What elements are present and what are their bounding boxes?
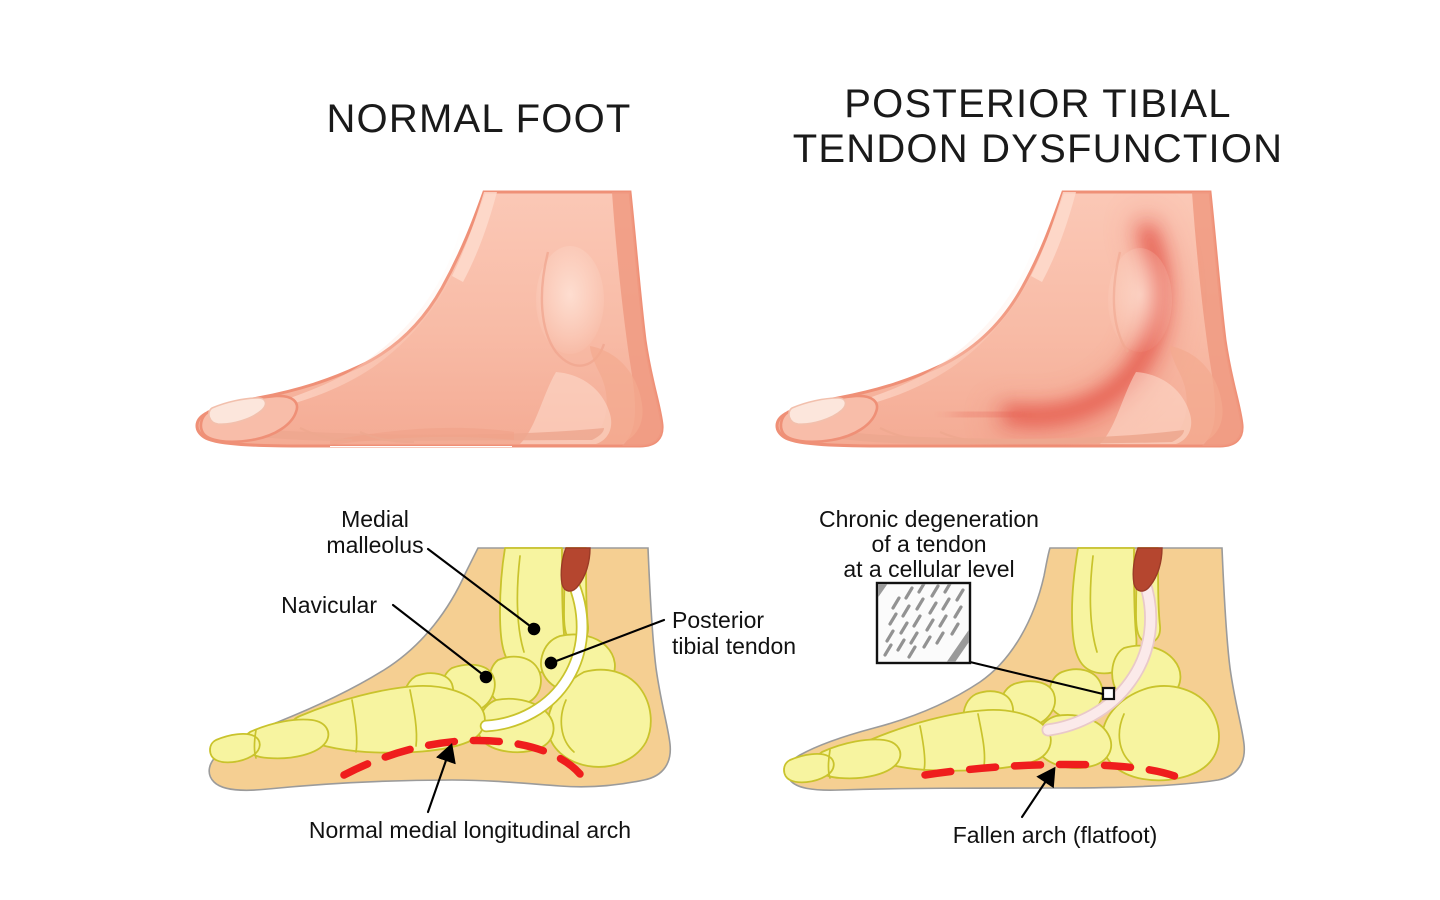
label-medial-malleolus-line2: malleolus	[326, 532, 423, 558]
label-chronic-degeneration-line3: at a cellular level	[843, 556, 1014, 582]
label-posterior-tibial-tendon-line2: tibial tendon	[672, 633, 796, 659]
label-posterior-tibial-tendon-line1: Posterior	[672, 607, 764, 633]
leader-navicular	[393, 605, 486, 677]
illustration-root: NORMAL FOOT POSTERIOR TIBIAL TENDON DYSF…	[0, 0, 1440, 900]
label-chronic-degeneration-line2: of a tendon	[871, 531, 986, 557]
label-normal-arch: Normal medial longitudinal arch	[309, 817, 631, 843]
label-fallen-arch: Fallen arch (flatfoot)	[953, 822, 1158, 848]
label-medial-malleolus-line1: Medial	[341, 506, 409, 532]
leader-normal-arch	[428, 749, 450, 812]
leader-medial-malleolus	[428, 549, 534, 629]
annotations-layer: Medial malleolus Navicular Posterior tib…	[0, 0, 1440, 900]
leader-posterior-tibial-tendon	[551, 620, 664, 663]
leader-fallen-arch	[1022, 772, 1052, 817]
label-navicular: Navicular	[281, 592, 377, 618]
label-chronic-degeneration-line1: Chronic degeneration	[819, 506, 1039, 532]
